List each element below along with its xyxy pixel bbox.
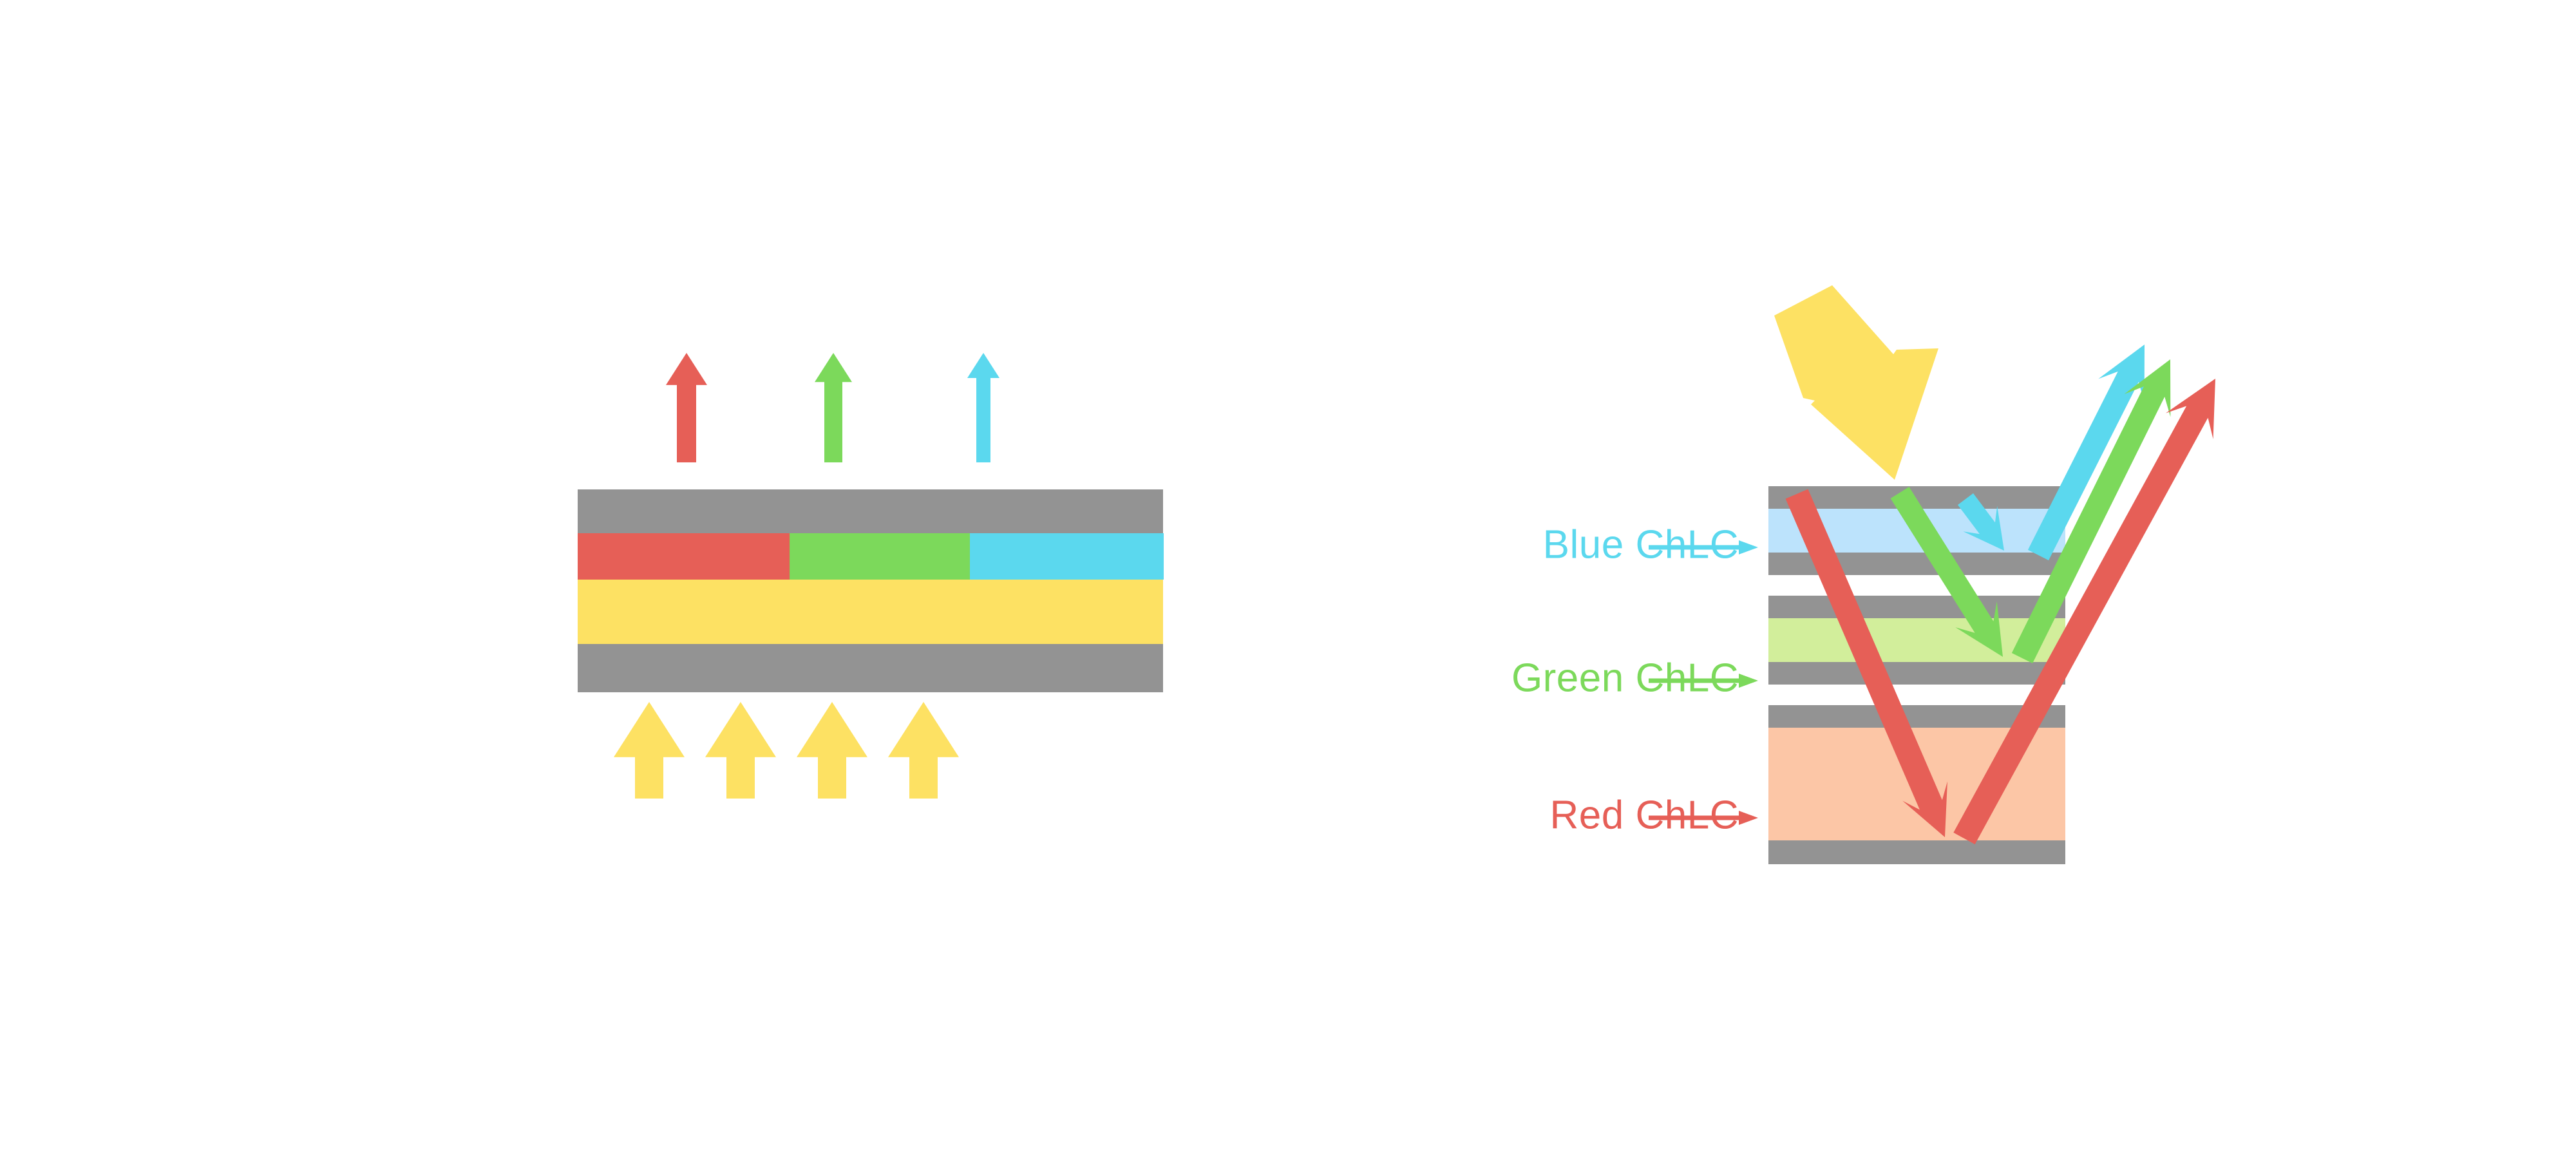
cyan-emission-arrow (967, 353, 999, 462)
green-emission-arrow (815, 353, 852, 462)
left-stack-group (578, 489, 1164, 692)
green-chlc-label: Green ChLC (1511, 656, 1739, 700)
backlight-arrow-3 (797, 702, 867, 799)
red-filter-segment (578, 533, 791, 580)
incident-light-arrow (1774, 285, 1938, 480)
cyan-filter-segment (970, 533, 1164, 580)
red-cell-bottom-electrode (1768, 840, 2065, 864)
top-electrode (578, 489, 1163, 533)
backlight-arrow-1 (614, 702, 685, 799)
yellow-backlight-layer (578, 580, 1163, 644)
green-cell-top-electrode (1768, 596, 2065, 618)
blue-chlc-label: Blue ChLC (1543, 522, 1739, 567)
green-filter-segment (790, 533, 971, 580)
left-panel-group (578, 353, 1164, 799)
figure-canvas: Blue ChLC Green ChLC Red ChLC (0, 0, 2576, 1154)
bottom-electrode (578, 644, 1163, 692)
right-panel-group: Blue ChLC Green ChLC Red ChLC (1511, 285, 2215, 864)
diagram-svg: Blue ChLC Green ChLC Red ChLC (0, 0, 2576, 1154)
red-emission-arrow (666, 353, 707, 462)
backlight-arrow-4 (888, 702, 959, 799)
backlight-arrows-group (614, 702, 959, 799)
red-chlc-label: Red ChLC (1550, 793, 1739, 837)
emission-arrows-group (666, 353, 999, 462)
green-cell-bottom-electrode (1768, 662, 2065, 685)
chlc-labels-group: Blue ChLC Green ChLC Red ChLC (1511, 522, 1758, 837)
backlight-arrow-2 (705, 702, 776, 799)
